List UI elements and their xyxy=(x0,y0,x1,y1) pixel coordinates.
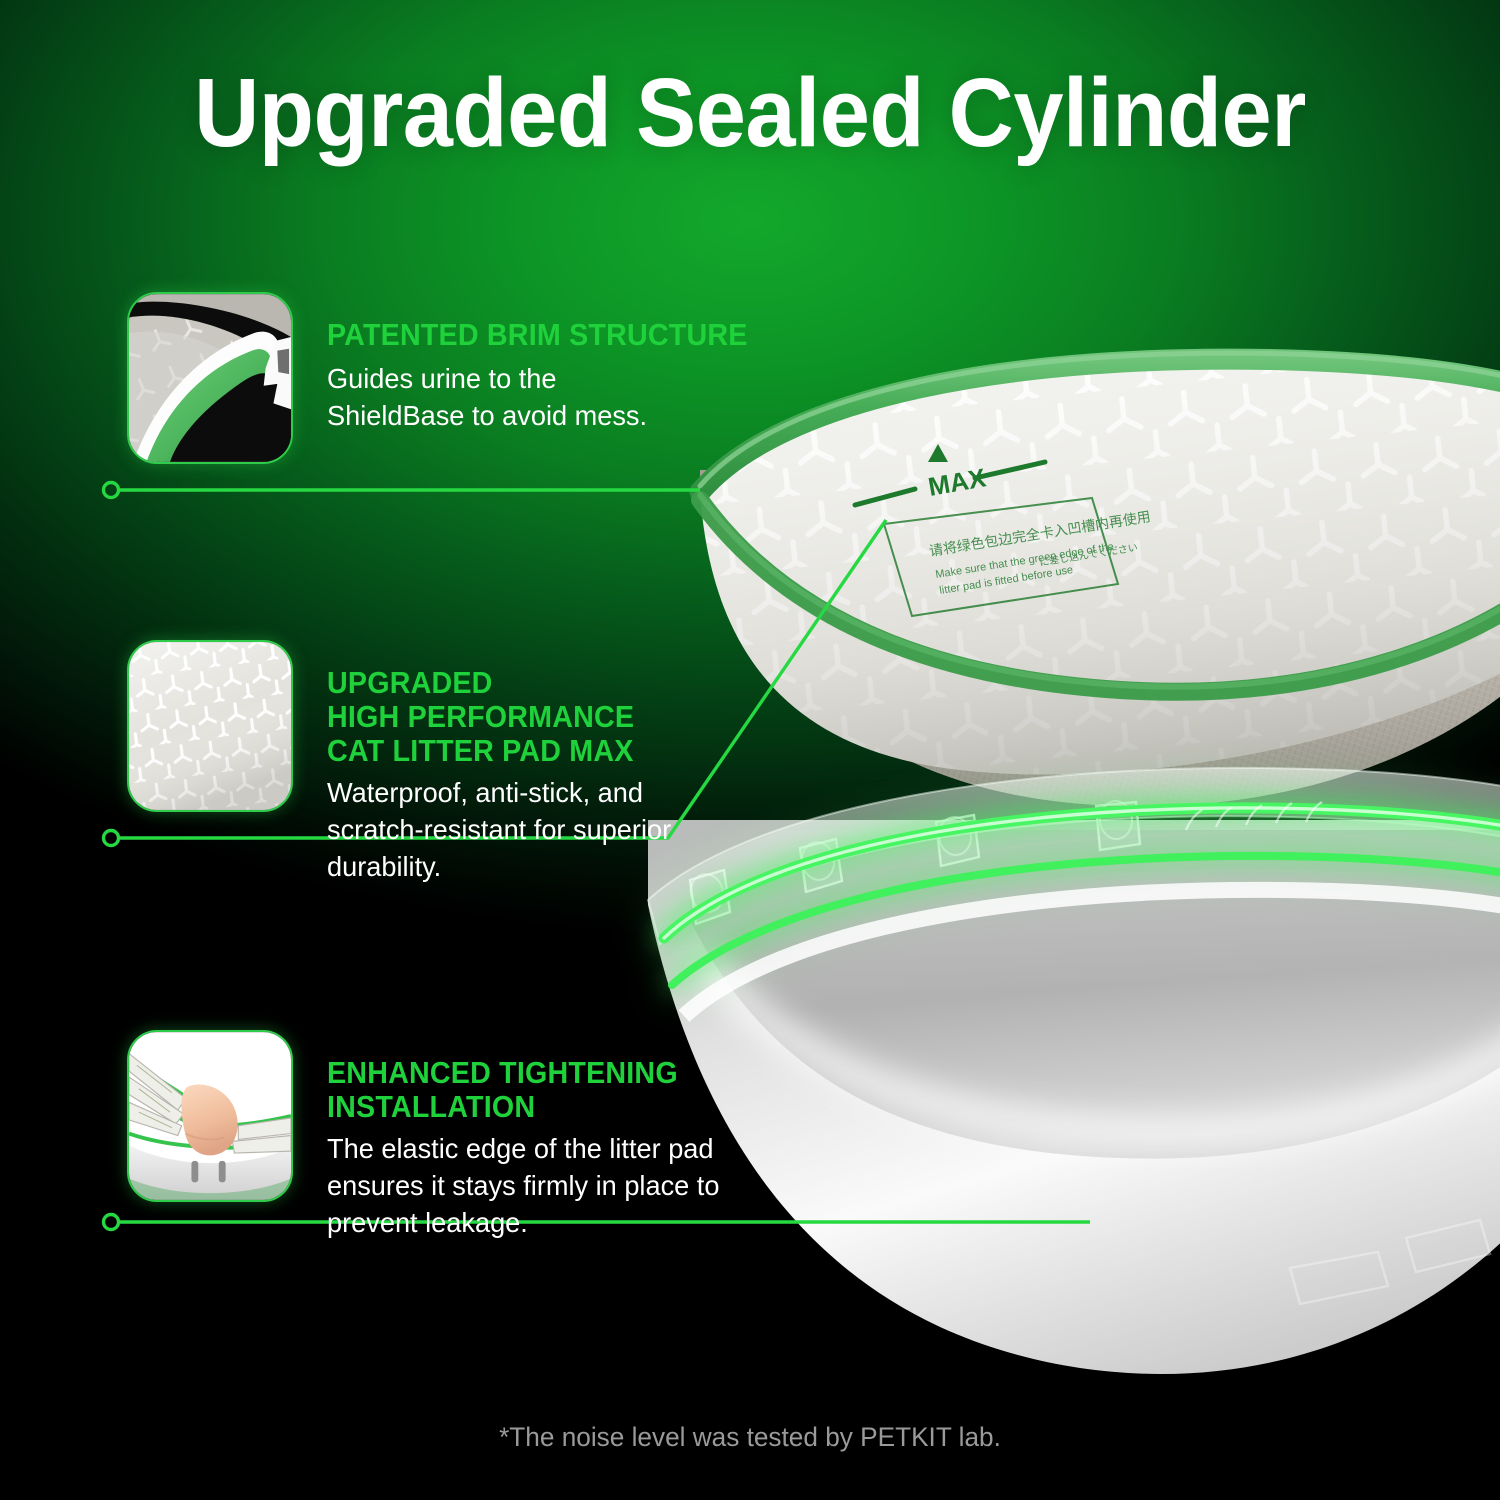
brim-cross-section-thumbnail xyxy=(127,292,293,464)
page-title: Upgraded Sealed Cylinder xyxy=(53,62,1448,165)
feature-body: Waterproof, anti-stick, and scratch-resi… xyxy=(327,775,671,885)
feature-callout-high-performance-cat-litter-pad-max: UPGRADED HIGH PERFORMANCE CAT LITTER PAD… xyxy=(127,640,682,885)
feature-body: The elastic edge of the litter pad ensur… xyxy=(327,1131,719,1241)
feature-body: Guides urine to the ShieldBase to avoid … xyxy=(327,361,761,434)
hand-stretching-elastic-edge-thumbnail xyxy=(127,1030,293,1202)
feature-heading: UPGRADED HIGH PERFORMANCE CAT LITTER PAD… xyxy=(327,666,661,768)
infographic-canvas: MAX 请将绿色包边完全卡入凹槽内再使用 Make sure that the … xyxy=(0,0,1500,1500)
footnote: *The noise level was tested by PETKIT la… xyxy=(23,1422,1478,1453)
feature-heading: PATENTED BRIM STRUCTURE xyxy=(327,318,748,352)
feature-heading: ENHANCED TIGHTENING INSTALLATION xyxy=(327,1056,707,1124)
feature-callout-patented-brim-structure: PATENTED BRIM STRUCTURE Guides urine to … xyxy=(127,292,774,464)
feature-callout-enhanced-tightening-installation: ENHANCED TIGHTENING INSTALLATION The ela… xyxy=(127,1030,732,1241)
litter-pad-texture-thumbnail xyxy=(127,640,293,812)
